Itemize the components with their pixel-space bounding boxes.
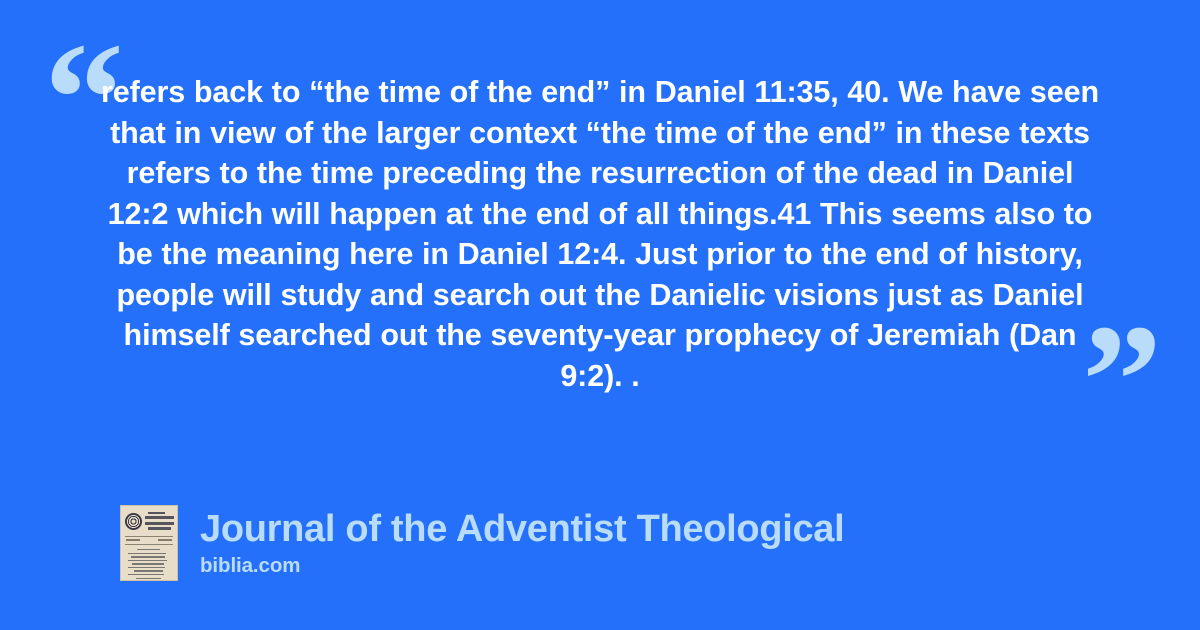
source-attribution: Journal of the Adventist Theological bib… [120, 505, 844, 581]
journal-seal-icon [125, 513, 142, 530]
closing-quote-icon: ” [1082, 300, 1160, 460]
cover-title-lines [145, 512, 174, 533]
journal-cover-thumbnail-icon [120, 505, 178, 581]
cover-divider-2 [125, 544, 173, 545]
source-text-block: Journal of the Adventist Theological bib… [200, 508, 844, 579]
cover-issue-meta [126, 539, 172, 541]
cover-divider [125, 536, 173, 537]
quote-card: “ refers back to “the time of the end” i… [0, 0, 1200, 630]
source-title: Journal of the Adventist Theological [200, 508, 844, 550]
cover-contents-lines [128, 549, 171, 581]
source-site: biblia.com [200, 553, 844, 579]
quote-text: refers back to “the time of the end” in … [100, 72, 1100, 396]
